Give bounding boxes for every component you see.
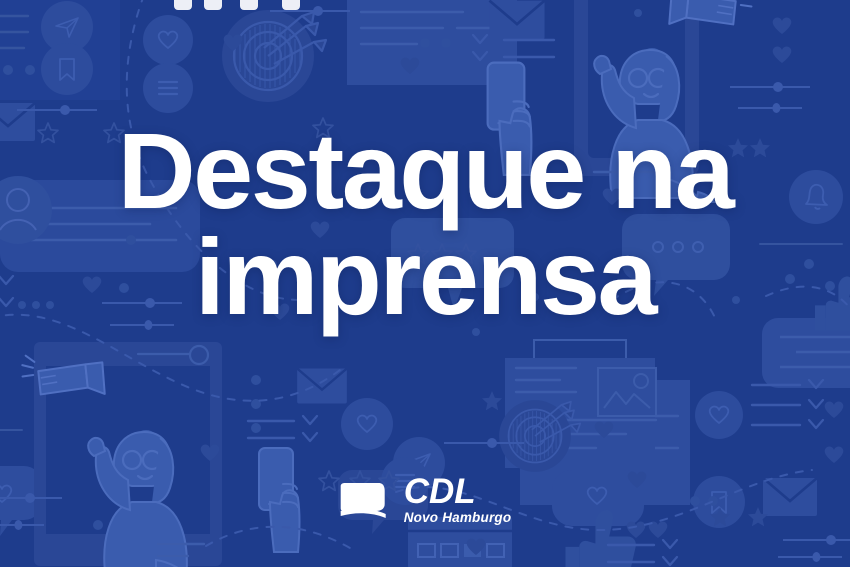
heart-circle-icon — [695, 391, 743, 439]
envelope-icon — [489, 1, 544, 40]
heart-circle-icon — [143, 15, 193, 65]
page-title: Destaque na imprensa — [0, 118, 850, 330]
logo-name: CDL — [404, 474, 512, 509]
heart-circle-icon — [341, 398, 393, 450]
headline-line-1: Destaque na — [0, 118, 850, 224]
bookmark-icon — [41, 43, 93, 95]
press-highlight-banner: Destaque na imprensa CDL Novo Hamburgo — [0, 0, 850, 567]
envelope-icon — [297, 369, 347, 404]
envelope-icon — [763, 478, 817, 516]
logo-subtitle: Novo Hamburgo — [404, 511, 512, 525]
cdl-book-mark — [339, 477, 397, 521]
headline-line-2: imprensa — [0, 224, 850, 330]
cdl-logo: CDL Novo Hamburgo — [339, 474, 512, 525]
menu-circle-icon — [143, 63, 193, 113]
person-megaphone-icon — [16, 342, 222, 567]
